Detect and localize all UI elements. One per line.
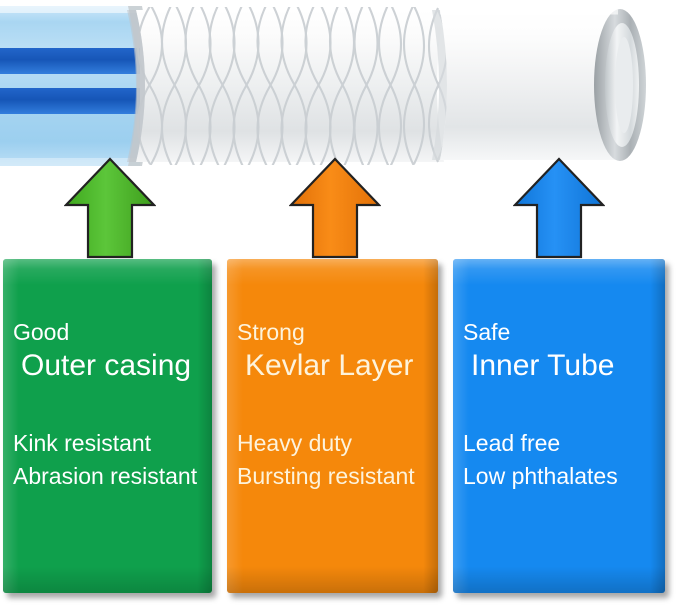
panel-eyebrow: Good [13, 317, 212, 347]
arrow-up-orange-icon [289, 157, 381, 259]
panel-outer-casing: Good Outer casing Kink resistant Abrasio… [3, 259, 212, 593]
panel-feature: Low phthalates [463, 460, 665, 493]
panel-feature: Kink resistant [13, 427, 212, 460]
panel-eyebrow: Strong [237, 317, 438, 347]
arrow-up-green-icon [64, 157, 156, 259]
panel-spacer [13, 385, 212, 427]
panel-feature: Lead free [463, 427, 665, 460]
outer-casing-segment [0, 6, 150, 166]
panel-inner-tube: Safe Inner Tube Lead free Low phthalates [453, 259, 665, 593]
panel-feature: Abrasion resistant [13, 460, 212, 493]
panel-eyebrow: Safe [463, 317, 665, 347]
cutaway-hose-image [0, 0, 679, 170]
panel-title: Outer casing [13, 347, 212, 385]
panel-spacer [237, 385, 438, 427]
arrow-up-blue-icon [513, 157, 605, 259]
panel-text-block: Safe Inner Tube Lead free Low phthalates [453, 259, 665, 493]
panel-title: Kevlar Layer [237, 347, 438, 385]
panel-spacer [463, 385, 665, 427]
inner-tube-segment [432, 9, 646, 161]
panel-title: Inner Tube [463, 347, 665, 385]
panel-feature: Bursting resistant [237, 460, 438, 493]
panel-text-block: Good Outer casing Kink resistant Abrasio… [3, 259, 212, 493]
infographic-canvas: Good Outer casing Kink resistant Abrasio… [0, 0, 679, 608]
kevlar-braid-segment [127, 0, 447, 170]
panel-feature: Heavy duty [237, 427, 438, 460]
panel-text-block: Strong Kevlar Layer Heavy duty Bursting … [227, 259, 438, 493]
panel-kevlar-layer: Strong Kevlar Layer Heavy duty Bursting … [227, 259, 438, 593]
